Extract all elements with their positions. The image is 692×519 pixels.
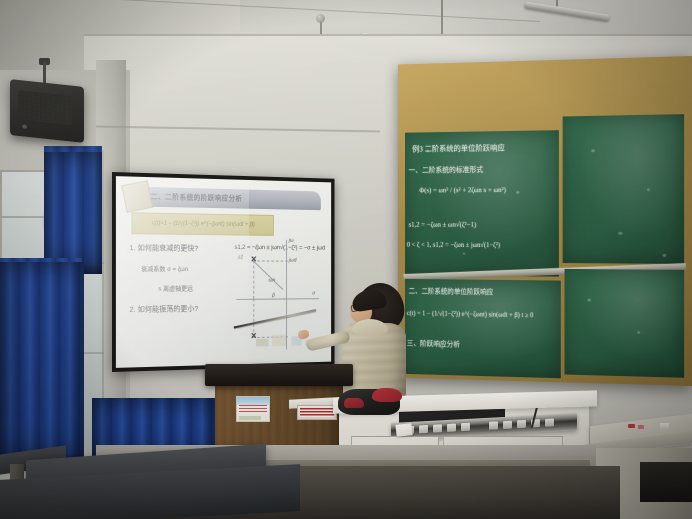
projection-screen[interactable]: 二、二阶系统的阶跃响应分析 c(t)=1 − (1/√(1−ζ²)) e^(−ζ… [112,172,335,372]
plot-label-wn: ωn [269,278,276,284]
side-table-shadow-recess [640,462,692,502]
speaker-grill [18,90,72,126]
poster-sky-band [237,397,269,405]
chalk-line-5: 0 < ζ < 1, s1,2 = −ζωn ± jωn√(1−ζ²) [407,241,500,249]
rack-button[interactable] [545,418,554,426]
plot-axis-label-imag: jω [289,238,294,244]
chalkboard-panel-lower-left: 二、二阶系统的单位阶跃响应 c(t) = 1 − (1/√(1−ζ²)) e^(… [405,279,561,378]
poster-text-lines [239,405,267,414]
chalk-line-2: 一、二阶系统的标准形式 [409,164,484,175]
podium-top-surface [205,364,353,386]
rack-button[interactable] [433,424,442,432]
chalk-line-4: s1,2 = −ζωn ± ωn√(ζ²−1) [409,220,477,229]
curtain-left[interactable] [0,262,84,464]
paper-sheet [395,423,412,437]
plot-imaginary-axis [286,240,287,350]
slide-formula-highlight: c(t)=1 − (1/√(1−ζ²)) e^(−ζωnt) sin(ωdt +… [131,212,273,236]
red-item-on-podium [344,398,364,408]
chalkboard-panel-lower-right [565,269,685,378]
podium-poster [236,396,270,422]
chalkboard: 例3 二阶系统的单位阶跃响应 一、二阶系统的标准形式 Φ(s) = ωn² / … [398,56,692,386]
chalkboard-panel-upper-right [563,114,684,264]
status-led-icon [22,124,27,129]
classroom-photo: 例3 二阶系统的单位阶跃响应 一、二阶系统的标准形式 Φ(s) = ωn² / … [0,0,692,519]
chalk-line-6: 二、二阶系统的单位阶跃响应 [409,287,494,298]
chalk-line-7: c(t) = 1 − (1/√(1−ζ²)) e^(−ζωnt) sin(ωdt… [407,309,534,319]
coat-collar [352,319,388,335]
screen-clutter-object [272,335,286,347]
side-table-red-item [628,424,635,428]
rack-button[interactable] [419,425,428,433]
plot-pole-marker-upper: × [249,255,259,266]
poster-footer-band [239,416,261,420]
plot-dash-vertical [253,261,254,299]
curtain-upper-right[interactable] [44,152,102,274]
slide-sub-1b: s 离虚轴更远 [158,284,193,293]
rack-button[interactable] [489,421,498,429]
red-bag-accent [372,388,402,402]
slide-title-bar: 二、二阶系统的阶跃响应分析 [130,186,321,210]
window-frame [82,352,104,354]
plot-real-axis [236,298,319,300]
red-sign-text-lines [300,408,334,417]
chalk-line-8: 三、阶跃响应分析 [407,338,460,350]
slide-sub-1: 衰减系数 σ = ζωn [141,264,188,273]
rack-button[interactable] [447,423,456,431]
chalk-line-3: Φ(s) = ωn² / (s² + 2ζωn s + ωn²) [419,185,506,194]
slide-question-1: 1. 如何能衰减的更快? [130,242,199,253]
ceiling-projector-unit [10,79,84,143]
slide-formula-text: c(t)=1 − (1/√(1−ζ²)) e^(−ζωnt) sin(ωdt +… [152,221,255,228]
plot-label-wd: jωd [289,258,297,264]
podium-red-sign [297,405,337,420]
rack-button[interactable] [461,423,470,431]
plot-label-angle: β [272,293,275,299]
chalkboard-panel-upper-left: 例3 二阶系统的单位阶跃响应 一、二阶系统的标准形式 Φ(s) = ωn² / … [405,130,559,276]
side-table-pink-item [638,425,644,429]
slide-question-2: 2. 如何能振荡的更小? [130,303,199,315]
chalk-line-1: 例3 二阶系统的单位阶跃响应 [412,143,505,155]
rack-button[interactable] [503,421,512,429]
projection-screen-surface: 二、二阶系统的阶跃响应分析 c(t)=1 − (1/√(1−ζ²)) e^(−ζ… [116,176,331,368]
plot-label-pole: s1 [238,255,243,261]
wall-trim [84,34,692,36]
plot-axis-label-real: σ [312,291,315,297]
side-table-white-item [660,423,669,430]
rack-button[interactable] [517,420,526,428]
screen-clutter-object [256,339,268,347]
